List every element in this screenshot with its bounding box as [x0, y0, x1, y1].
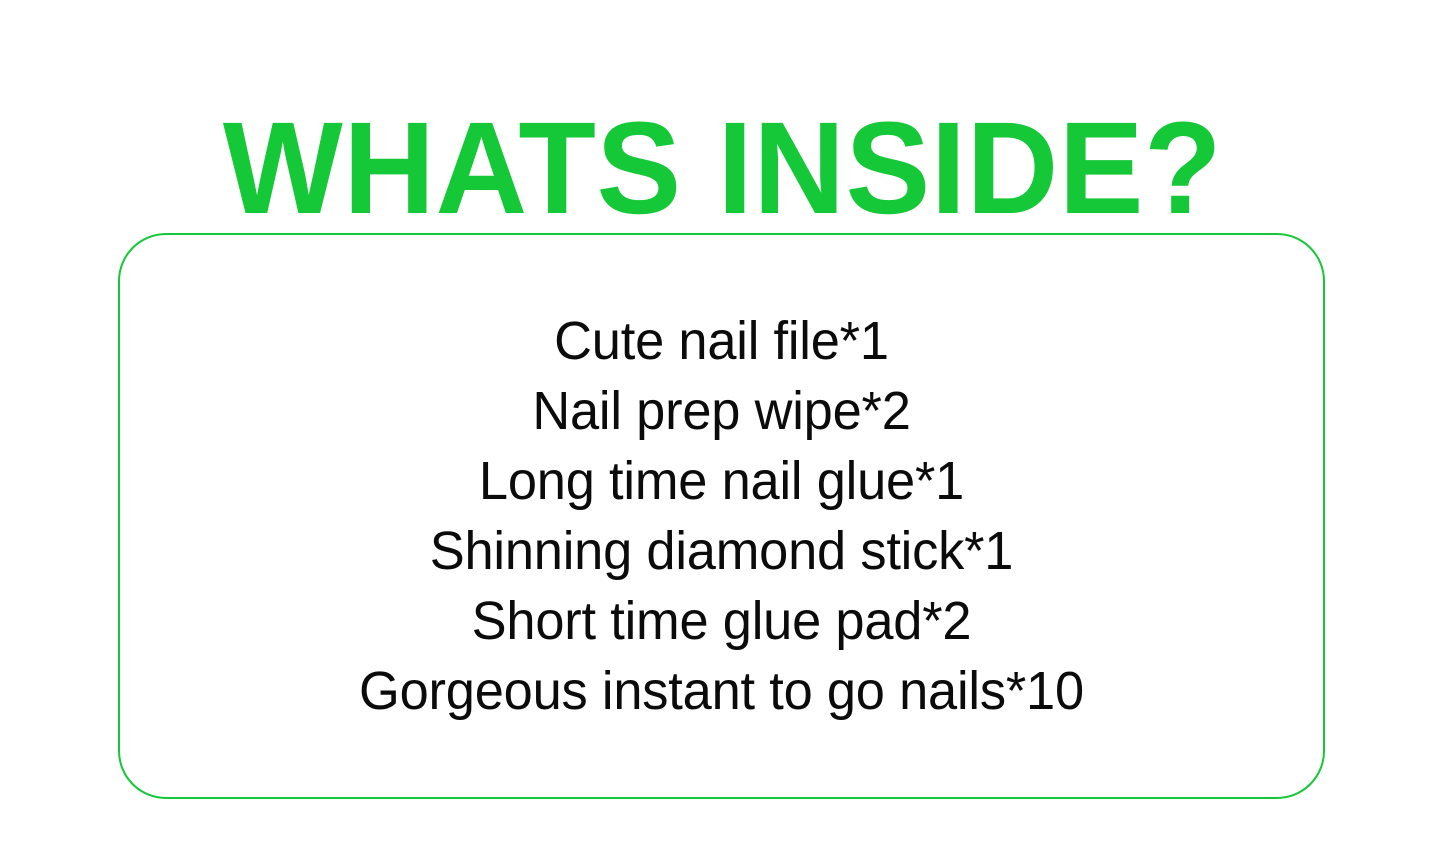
list-item: Nail prep wipe*2 — [138, 376, 1305, 446]
list-item: Shinning diamond stick*1 — [138, 516, 1305, 586]
product-contents-infographic: WHATS INSIDE? Cute nail file*1 Nail prep… — [0, 0, 1445, 861]
list-item: Short time glue pad*2 — [138, 586, 1305, 656]
page-title: WHATS INSIDE? — [22, 88, 1424, 248]
list-item: Cute nail file*1 — [138, 306, 1305, 376]
list-item: Long time nail glue*1 — [138, 446, 1305, 516]
contents-list: Cute nail file*1 Nail prep wipe*2 Long t… — [120, 306, 1323, 726]
contents-card: Cute nail file*1 Nail prep wipe*2 Long t… — [118, 233, 1325, 799]
list-item: Gorgeous instant to go nails*10 — [138, 656, 1305, 726]
